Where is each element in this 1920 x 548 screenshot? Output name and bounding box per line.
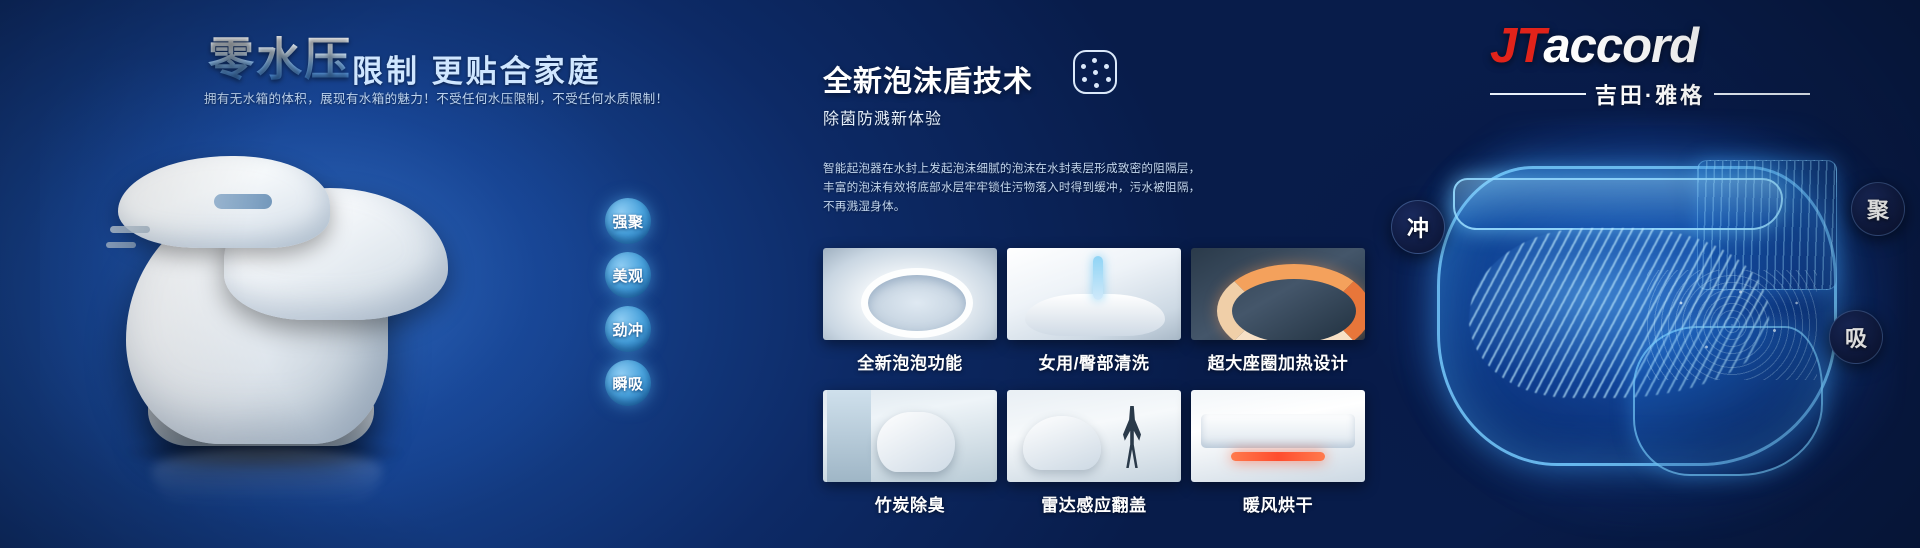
headline-description: 拥有无水箱的体积，展现有水箱的魅力！不受任何水压限制，不受任何水质限制！ [204,88,668,107]
feature-cell-5[interactable]: 暖风烘干 [1191,390,1365,516]
callout-badge-chong[interactable]: 冲 [1391,200,1445,254]
feature-badge-1[interactable]: 美观 [605,252,651,298]
feature-cell-3[interactable]: 竹炭除臭 [823,390,997,516]
bamboo-charcoal-photo [823,390,997,482]
brand-logo-jt: JT [1490,19,1543,73]
brand-logo-subtitle-row: 吉田·雅格 [1490,78,1810,110]
bowl-foam-photo [823,248,997,340]
headline-sub: 限制 更贴合家庭 [352,46,602,91]
feature-caption-1: 女用/臀部清洗 [1007,349,1181,374]
feature-caption-3: 竹炭除臭 [823,491,997,516]
toilet-lid [118,156,330,248]
feature-row-2: 竹炭除臭 雷达感应翻盖 暖风烘干 [823,390,1367,516]
headline-main: 零水压 [208,36,352,82]
brand-logo-wordmark: JTaccord [1490,22,1810,71]
feature-cell-4[interactable]: 雷达感应翻盖 [1007,390,1181,516]
left-panel: 零水压 限制 更贴合家庭 拥有无水箱的体积，展现有水箱的魅力！不受任何水压限制，… [0,0,680,548]
feature-cell-2[interactable]: 超大座圈加热设计 [1191,248,1365,374]
xray-rim [1453,178,1783,230]
radar-auto-lid-photo [1007,390,1181,482]
feature-caption-2: 超大座圈加热设计 [1191,349,1365,374]
foam-shield-title: 全新泡沫盾技术 [823,58,1033,100]
middle-panel: 全新泡沫盾技术 除菌防溅新体验 智能起泡器在水封上发起泡沫细腻的泡沫在水封表层形… [815,0,1375,548]
feature-cell-0[interactable]: 全新泡泡功能 [823,248,997,374]
feature-row-1: 全新泡泡功能 女用/臀部清洗 超大座圈加热设计 [823,248,1367,374]
toilet-reflection [152,448,382,520]
nozzle-wash-photo [1007,248,1181,340]
smart-toilet-product-image [92,130,462,460]
feature-badge-2[interactable]: 劲冲 [605,306,651,352]
body-line-2: 不再溅湿身体。 [823,198,1243,217]
brand-logo-accord: accord [1543,19,1698,73]
toilet-control-panel [214,194,272,209]
heated-seat-ring-photo [1191,248,1365,340]
body-line-0: 智能起泡器在水封上发起泡沫细腻的泡沫在水封表层形成致密的阻隔层， [823,160,1243,179]
promotional-banner: 零水压 限制 更贴合家庭 拥有无水箱的体积，展现有水箱的魅力！不受任何水压限制，… [0,0,1920,548]
right-panel: JTaccord 吉田·雅格 冲 聚 吸 [1375,0,1920,548]
feature-caption-5: 暖风烘干 [1191,491,1365,516]
callout-badge-ju[interactable]: 聚 [1851,182,1905,236]
toilet-side-button-secondary [106,242,136,248]
xray-particles [1647,270,1817,380]
brand-logo: JTaccord 吉田·雅格 [1490,22,1810,110]
logo-divider-right [1714,93,1810,95]
feature-badge-0[interactable]: 强聚 [605,198,651,244]
brand-logo-chinese: 吉田·雅格 [1595,78,1705,110]
xray-toilet-cutaway: 冲 聚 吸 [1397,120,1897,532]
foam-shield-body: 智能起泡器在水封上发起泡沫细腻的泡沫在水封表层形成致密的阻隔层， 丰富的泡沫有效… [823,160,1243,216]
toilet-side-button [110,226,150,233]
callout-badge-xi[interactable]: 吸 [1829,310,1883,364]
feature-badge-3[interactable]: 瞬吸 [605,360,651,406]
foam-shield-subtitle: 除菌防溅新体验 [823,105,942,129]
feature-cell-1[interactable]: 女用/臀部清洗 [1007,248,1181,374]
feature-thumbnail-grid: 全新泡泡功能 女用/臀部清洗 超大座圈加热设计 竹炭除臭 雷 [823,248,1367,516]
feature-caption-4: 雷达感应翻盖 [1007,491,1181,516]
feature-caption-0: 全新泡泡功能 [823,349,997,374]
body-line-1: 丰富的泡沫有效将底部水层牢牢锁住污物落入时得到缓冲，污水被阻隔， [823,179,1243,198]
warm-air-dryer-photo [1191,390,1365,482]
feature-badge-list: 强聚 美观 劲冲 瞬吸 [605,198,675,414]
logo-divider-left [1490,93,1586,95]
foam-bubble-shield-icon [1073,50,1117,94]
